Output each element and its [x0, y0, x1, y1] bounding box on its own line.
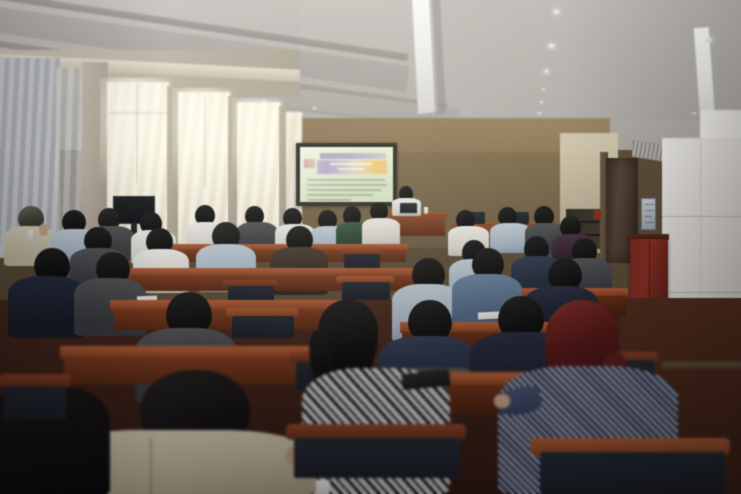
plaque-text-line	[645, 216, 652, 217]
attendee-hand	[39, 224, 48, 236]
downlight-icon	[548, 44, 555, 48]
chair-back-row-2[interactable]	[344, 254, 380, 268]
downlight-icon	[539, 101, 544, 104]
cup	[424, 207, 428, 214]
cabinet-door-seam	[649, 241, 650, 297]
projection-screen-surface	[300, 147, 393, 202]
baseboard	[662, 362, 741, 369]
laptop-base	[399, 213, 418, 215]
pillar-seam	[662, 216, 741, 217]
chair-back-foreground-right[interactable]	[540, 452, 725, 494]
downlight-icon	[700, 84, 705, 87]
pillar-seam	[662, 292, 741, 293]
bottle	[28, 230, 33, 244]
window-mullion	[108, 112, 168, 114]
attendee-torso	[362, 218, 400, 246]
shelf-item	[594, 210, 601, 219]
window-mullion	[204, 94, 206, 186]
chair-back-row-2-right[interactable]	[342, 282, 390, 300]
wall-plaque	[641, 198, 656, 230]
downlight-icon	[541, 88, 546, 91]
downlight-icon	[706, 38, 713, 42]
downlight-icon	[553, 10, 560, 14]
downlight-icon	[544, 70, 549, 73]
cup	[316, 480, 330, 494]
downlight-icon	[312, 107, 317, 110]
plaque-text-line	[645, 222, 654, 223]
screen-glare	[300, 147, 393, 202]
chair-back-foreground-left[interactable]	[4, 386, 66, 420]
plaque-text-line	[645, 204, 654, 205]
jacket-seam	[150, 438, 152, 494]
ceiling-plane-right	[430, 0, 741, 120]
chair-back-mid-foreground[interactable]	[294, 438, 460, 478]
conference-room-photo	[0, 0, 741, 494]
attendee-hand	[494, 394, 510, 408]
plaque-text-line	[645, 210, 654, 211]
downlight-icon	[537, 112, 542, 115]
chair-back-row-3[interactable]	[232, 316, 294, 338]
projection-screen[interactable]	[296, 143, 397, 206]
downlight-icon	[692, 112, 697, 115]
window-mullion	[136, 84, 138, 184]
